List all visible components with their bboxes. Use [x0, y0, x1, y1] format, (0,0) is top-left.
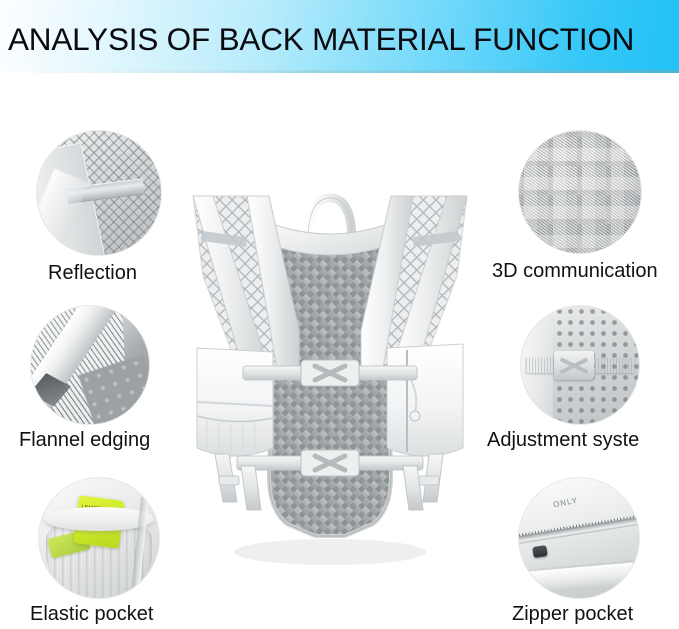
page-title: ANALYSIS OF BACK MATERIAL FUNCTION: [8, 21, 679, 57]
vest-pocket-right-zippered: [387, 344, 463, 456]
feature-elastic-pocket-image: LEMONSUBLIME: [39, 478, 159, 598]
feature-elastic-pocket[interactable]: LEMONSUBLIME Elastic pocket: [39, 478, 159, 598]
feature-flannel-edging[interactable]: Flannel edging: [31, 306, 149, 424]
feature-adjustment-system[interactable]: Adjustment syste: [521, 306, 639, 424]
vest-shadow: [234, 539, 426, 565]
feature-reflection-image: [37, 131, 161, 255]
waffle-cells-overlay: [519, 131, 641, 253]
vest-illustration: [175, 180, 485, 580]
x-buckle-icon: [554, 351, 594, 381]
feature-flannel-edging-label: Flannel edging: [19, 428, 150, 452]
infographic-root: ANALYSIS OF BACK MATERIAL FUNCTION: [0, 0, 679, 629]
vest-chest-strap-lower: [237, 450, 423, 476]
feature-reflection[interactable]: Reflection: [37, 131, 161, 255]
feature-flannel-edging-image: [31, 306, 149, 424]
feature-adjustment-system-image: [521, 306, 639, 424]
feature-zipper-pocket-label: Zipper pocket: [512, 602, 633, 626]
product-image-vest: [175, 180, 485, 580]
feature-adjustment-system-label: Adjustment syste: [487, 428, 639, 452]
feature-3d-communication-label: 3D communication: [492, 259, 658, 283]
feature-zipper-pocket-image: ONLY: [519, 478, 639, 598]
feature-3d-communication[interactable]: 3D communication: [519, 131, 641, 253]
feature-reflection-label: Reflection: [48, 261, 137, 285]
vest-pocket-left: [197, 348, 273, 458]
header-banner: ANALYSIS OF BACK MATERIAL FUNCTION: [0, 0, 679, 73]
feature-3d-communication-image: [519, 131, 641, 253]
feature-zipper-pocket[interactable]: ONLY Zipper pocket: [519, 478, 639, 598]
feature-elastic-pocket-label: Elastic pocket: [30, 602, 153, 626]
zipper-pull-bead: [410, 411, 420, 421]
